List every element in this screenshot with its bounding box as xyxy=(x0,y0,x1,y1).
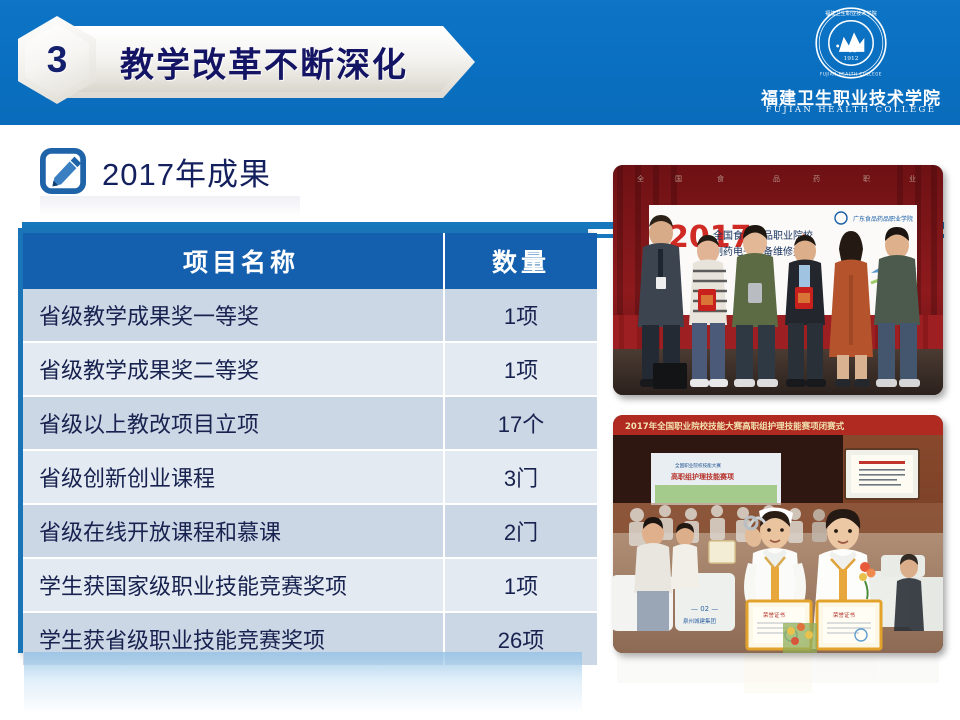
award-ceremony-photo-image: 全国食 品药职业 2017 全国食品药品职业院校 制药电子设备维修技术 广东食品… xyxy=(613,165,943,395)
cell-item-name: 省级以上教改项目立项 xyxy=(23,396,444,450)
svg-text:全国职业院校技能大赛: 全国职业院校技能大赛 xyxy=(675,462,721,469)
table-header-quantity: 数量 xyxy=(444,233,597,289)
section-title-text: 2017年成果 xyxy=(102,149,271,194)
svg-text:— 02 —: — 02 — xyxy=(691,605,718,613)
table-header-item-name: 项目名称 xyxy=(23,233,444,289)
svg-text:食: 食 xyxy=(717,174,724,183)
section-heading-reflection xyxy=(40,196,300,218)
cell-item-name: 省级在线开放课程和慕课 xyxy=(23,504,444,558)
svg-text:荣誉证书: 荣誉证书 xyxy=(763,611,786,619)
presentation-slide: 教学改革不断深化 3 1912 福建卫生职业技术学院 xyxy=(0,0,960,720)
svg-text:高职组护理技能赛项: 高职组护理技能赛项 xyxy=(671,472,734,481)
svg-text:业: 业 xyxy=(909,174,916,183)
section-number-text: 3 xyxy=(18,16,96,104)
cell-item-name: 省级创新创业课程 xyxy=(23,450,444,504)
edit-pencil-icon xyxy=(40,148,86,194)
photo-reflection-image xyxy=(617,653,939,715)
college-seal-icon: 1912 福建卫生职业技术学院 FUJIAN HEALTH COLLEGE xyxy=(814,6,888,80)
results-table-frame: 项目名称 数量 省级教学成果奖一等奖 1项 省级教学成果奖二等奖 1项 省级以上… xyxy=(18,228,588,653)
banner-title-text: 教学改革不断深化 xyxy=(120,38,408,87)
college-name-en: FUJIAN HEALTH COLLEGE xyxy=(756,105,946,115)
svg-text:荣誉证书: 荣誉证书 xyxy=(833,611,856,619)
table-row: 省级在线开放课程和慕课 2门 xyxy=(23,504,597,558)
nursing-competition-photo: 2017年全国职业院校技能大赛高职组护理技能赛项闭赛式 全国职业院校技能大赛 高… xyxy=(613,415,943,653)
svg-text:职: 职 xyxy=(863,175,870,183)
svg-text:广东食品药品职业学院: 广东食品药品职业学院 xyxy=(853,215,913,223)
svg-text:2017年全国职业院校技能大赛高职组护理技能赛项闭赛式: 2017年全国职业院校技能大赛高职组护理技能赛项闭赛式 xyxy=(625,421,845,432)
table-row: 学生获省级职业技能竞赛奖项 26项 xyxy=(23,612,597,666)
cell-item-name: 学生获省级职业技能竞赛奖项 xyxy=(23,612,444,666)
svg-text:1912: 1912 xyxy=(843,56,858,62)
svg-text:FUJIAN HEALTH COLLEGE: FUJIAN HEALTH COLLEGE xyxy=(820,72,882,77)
cell-quantity: 1项 xyxy=(444,289,597,342)
college-logo: 1912 福建卫生职业技术学院 FUJIAN HEALTH COLLEGE 福建… xyxy=(756,4,946,120)
results-table: 项目名称 数量 省级教学成果奖一等奖 1项 省级教学成果奖二等奖 1项 省级以上… xyxy=(23,233,597,667)
award-ceremony-photo: 全国食 品药职业 2017 全国食品药品职业院校 制药电子设备维修技术 广东食品… xyxy=(613,165,943,395)
table-row: 学生获国家级职业技能竞赛奖项 1项 xyxy=(23,558,597,612)
svg-text:药: 药 xyxy=(813,174,820,183)
table-row: 省级教学成果奖一等奖 1项 xyxy=(23,289,597,342)
section-number-badge: 3 xyxy=(18,16,96,104)
nursing-competition-photo-image: 2017年全国职业院校技能大赛高职组护理技能赛项闭赛式 全国职业院校技能大赛 高… xyxy=(613,415,943,653)
table-row: 省级以上教改项目立项 17个 xyxy=(23,396,597,450)
table-header-row: 项目名称 数量 xyxy=(23,233,597,289)
table-row: 省级创新创业课程 3门 xyxy=(23,450,597,504)
cell-quantity: 3门 xyxy=(444,450,597,504)
photo-reflection xyxy=(617,653,939,715)
cell-item-name: 学生获国家级职业技能竞赛奖项 xyxy=(23,558,444,612)
svg-text:品: 品 xyxy=(773,175,780,183)
cell-quantity: 17个 xyxy=(444,396,597,450)
svg-text:全: 全 xyxy=(637,174,644,183)
cell-quantity: 2门 xyxy=(444,504,597,558)
table-row: 省级教学成果奖二等奖 1项 xyxy=(23,342,597,396)
svg-text:国: 国 xyxy=(675,175,682,183)
section-heading: 2017年成果 xyxy=(40,148,271,194)
svg-text:福建卫生职业技术学院: 福建卫生职业技术学院 xyxy=(825,9,877,17)
cell-item-name: 省级教学成果奖二等奖 xyxy=(23,342,444,396)
cell-quantity: 26项 xyxy=(444,612,597,666)
cell-quantity: 1项 xyxy=(444,558,597,612)
header-band-underline xyxy=(0,120,960,125)
cell-quantity: 1项 xyxy=(444,342,597,396)
cell-item-name: 省级教学成果奖一等奖 xyxy=(23,289,444,342)
svg-text:泉州城建集团: 泉州城建集团 xyxy=(683,617,717,625)
